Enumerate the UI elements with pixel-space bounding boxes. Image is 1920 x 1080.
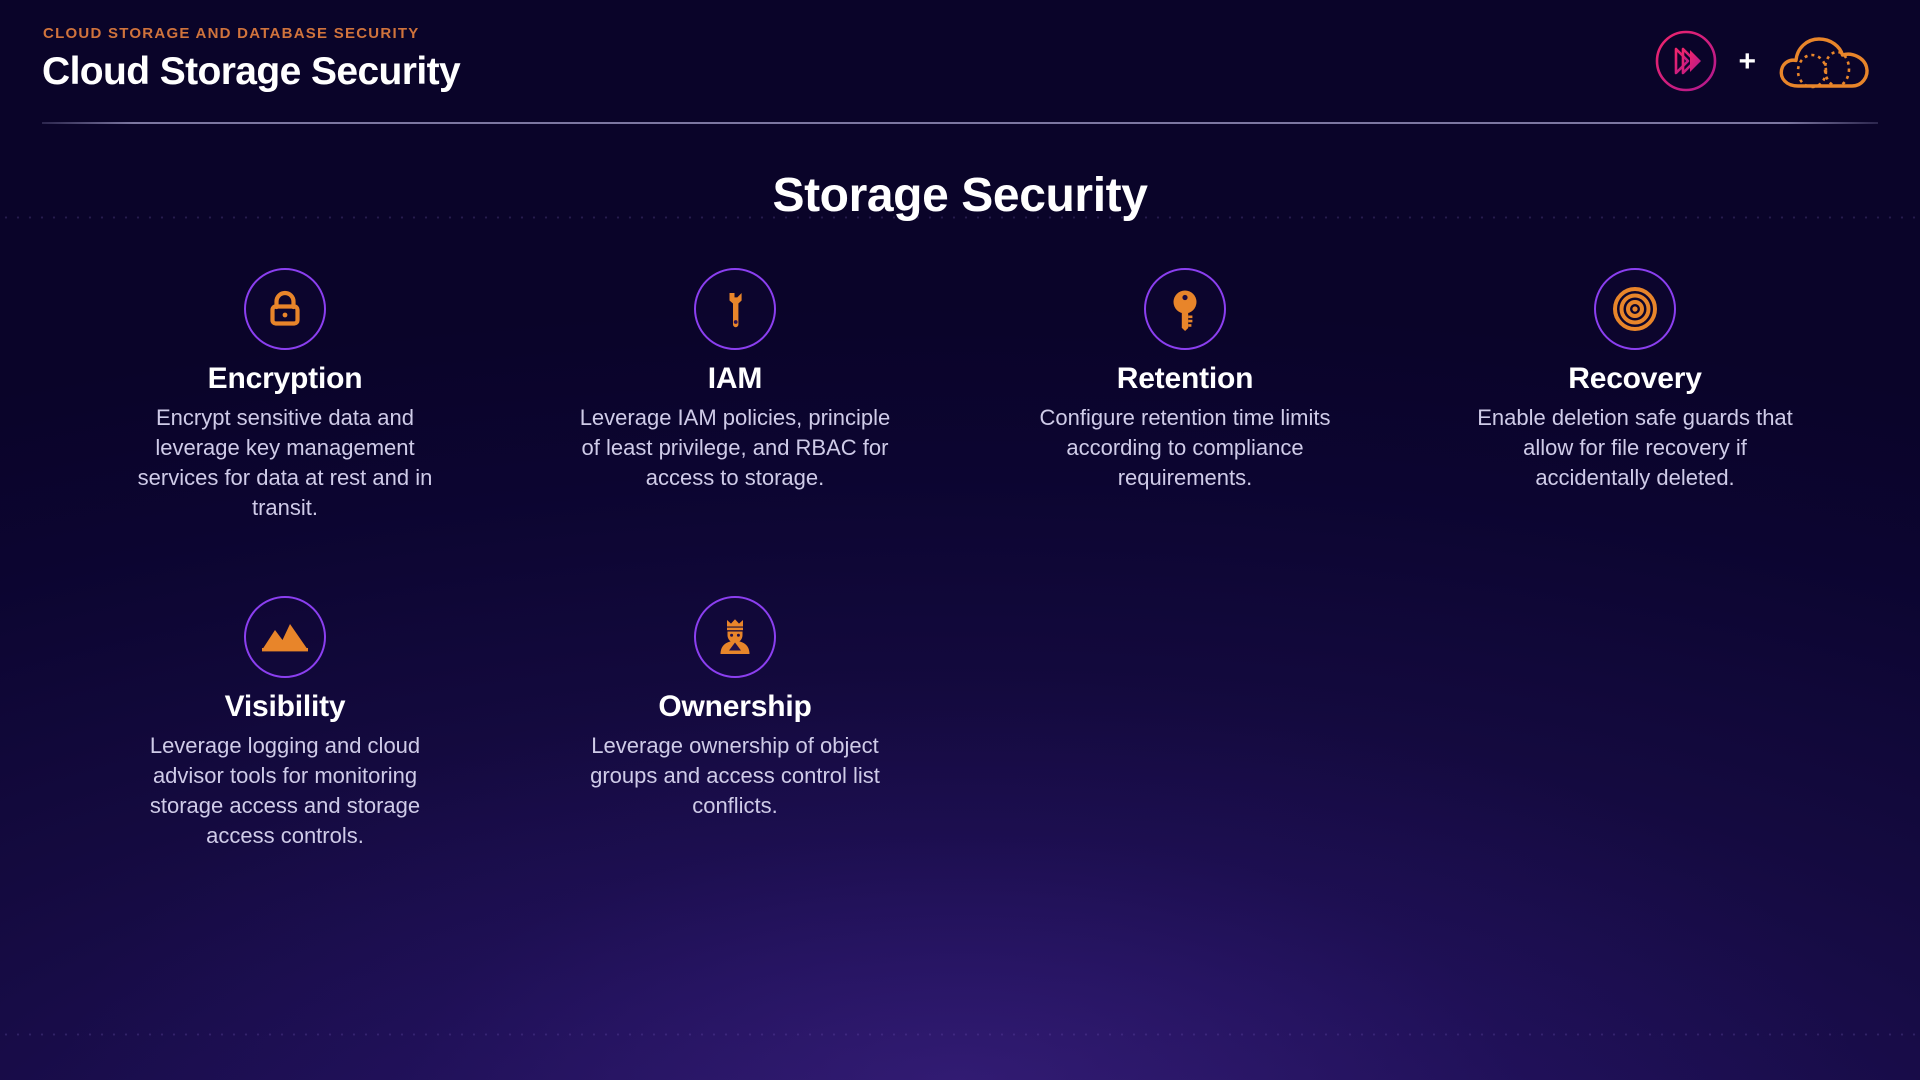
feature-grid: Encryption Encrypt sensitive data and le…	[60, 268, 1860, 924]
key-icon	[1144, 268, 1226, 350]
feature-card-encryption: Encryption Encrypt sensitive data and le…	[60, 268, 510, 596]
wrench-icon	[694, 268, 776, 350]
card-title: Visibility	[76, 690, 494, 723]
feature-grid-empty-slot	[960, 596, 1410, 924]
mountains-icon	[244, 596, 326, 678]
card-description: Leverage logging and cloud advisor tools…	[120, 731, 450, 851]
crowned-user-icon	[694, 596, 776, 678]
card-title: Retention	[976, 362, 1394, 395]
feature-card-visibility: Visibility Leverage logging and cloud ad…	[60, 596, 510, 924]
orange-cloud-logo-icon	[1776, 30, 1876, 92]
padlock-icon	[244, 268, 326, 350]
acg-play-logo-icon	[1654, 29, 1718, 93]
feature-card-iam: IAM Leverage IAM policies, principle of …	[510, 268, 960, 596]
card-title: Encryption	[76, 362, 494, 395]
logo-group: +	[1654, 22, 1876, 100]
slide-header: CLOUD STORAGE AND DATABASE SECURITY Clou…	[0, 0, 1920, 124]
target-icon	[1594, 268, 1676, 350]
plus-separator: +	[1738, 47, 1756, 77]
card-description: Configure retention time limits accordin…	[1020, 403, 1350, 493]
page-title: Cloud Storage Security	[42, 50, 460, 94]
feature-card-retention: Retention Configure retention time limit…	[960, 268, 1410, 596]
header-divider	[42, 122, 1878, 124]
slide-title: Storage Security	[0, 168, 1920, 223]
decorative-dot-band	[0, 1033, 1920, 1036]
header-eyebrow: CLOUD STORAGE AND DATABASE SECURITY	[43, 25, 420, 42]
card-description: Leverage ownership of object groups and …	[570, 731, 900, 821]
feature-card-ownership: Ownership Leverage ownership of object g…	[510, 596, 960, 924]
card-description: Encrypt sensitive data and leverage key …	[120, 403, 450, 523]
slide-canvas: CLOUD STORAGE AND DATABASE SECURITY Clou…	[0, 0, 1920, 1080]
card-title: IAM	[526, 362, 944, 395]
card-title: Ownership	[526, 690, 944, 723]
feature-card-recovery: Recovery Enable deletion safe guards tha…	[1410, 268, 1860, 596]
card-title: Recovery	[1426, 362, 1844, 395]
feature-grid-empty-slot	[1410, 596, 1860, 924]
card-description: Enable deletion safe guards that allow f…	[1470, 403, 1800, 493]
card-description: Leverage IAM policies, principle of leas…	[570, 403, 900, 493]
